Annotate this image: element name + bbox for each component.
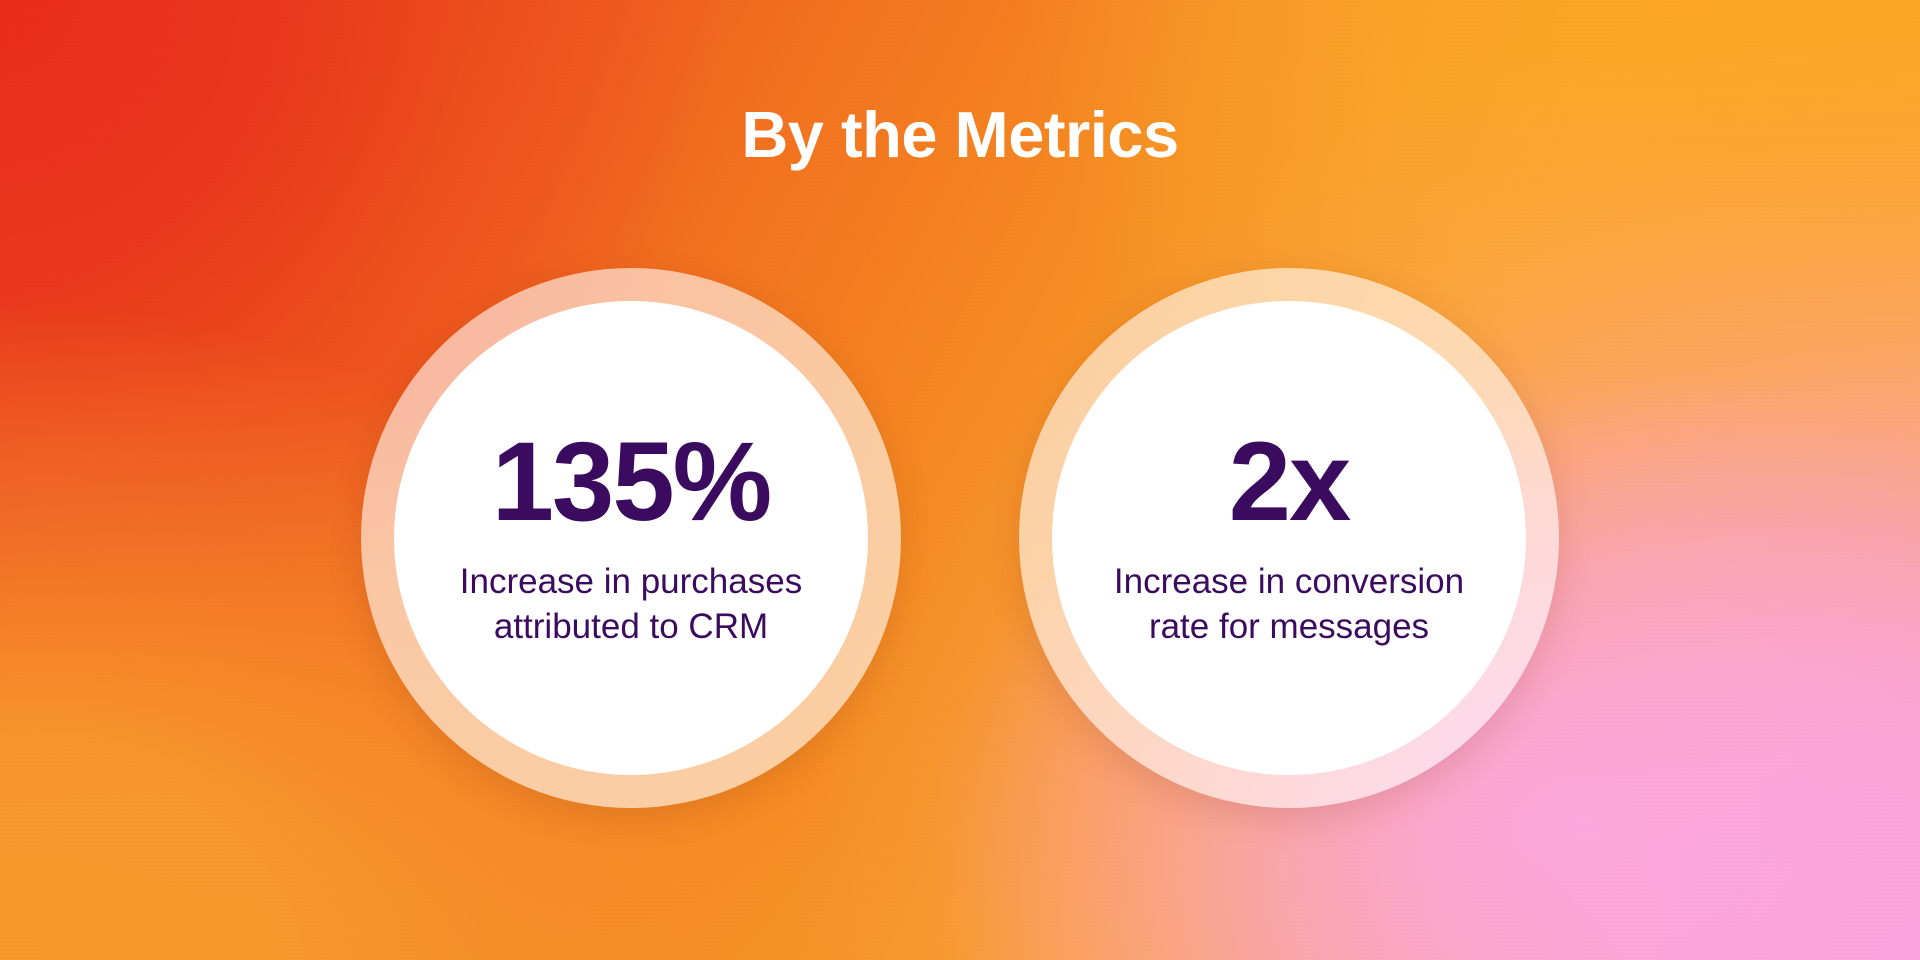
metrics-row: 135% Increase in purchases attributed to… <box>0 268 1920 808</box>
metric-card-conversion-body: 2x Increase in conversion rate for messa… <box>1052 301 1526 775</box>
metric-label-conversion: Increase in conversion rate for messages <box>1109 560 1469 650</box>
metric-label-purchases: Increase in purchases attributed to CRM <box>451 560 811 650</box>
infographic-canvas: By the Metrics 135% Increase in purchase… <box>0 0 1920 960</box>
metric-card-purchases: 135% Increase in purchases attributed to… <box>361 268 901 808</box>
page-title: By the Metrics <box>0 101 1920 169</box>
metric-value-conversion: 2x <box>1229 426 1350 538</box>
metric-card-purchases-body: 135% Increase in purchases attributed to… <box>394 301 868 775</box>
metric-card-conversion: 2x Increase in conversion rate for messa… <box>1019 268 1559 808</box>
metric-value-purchases: 135% <box>492 426 770 538</box>
